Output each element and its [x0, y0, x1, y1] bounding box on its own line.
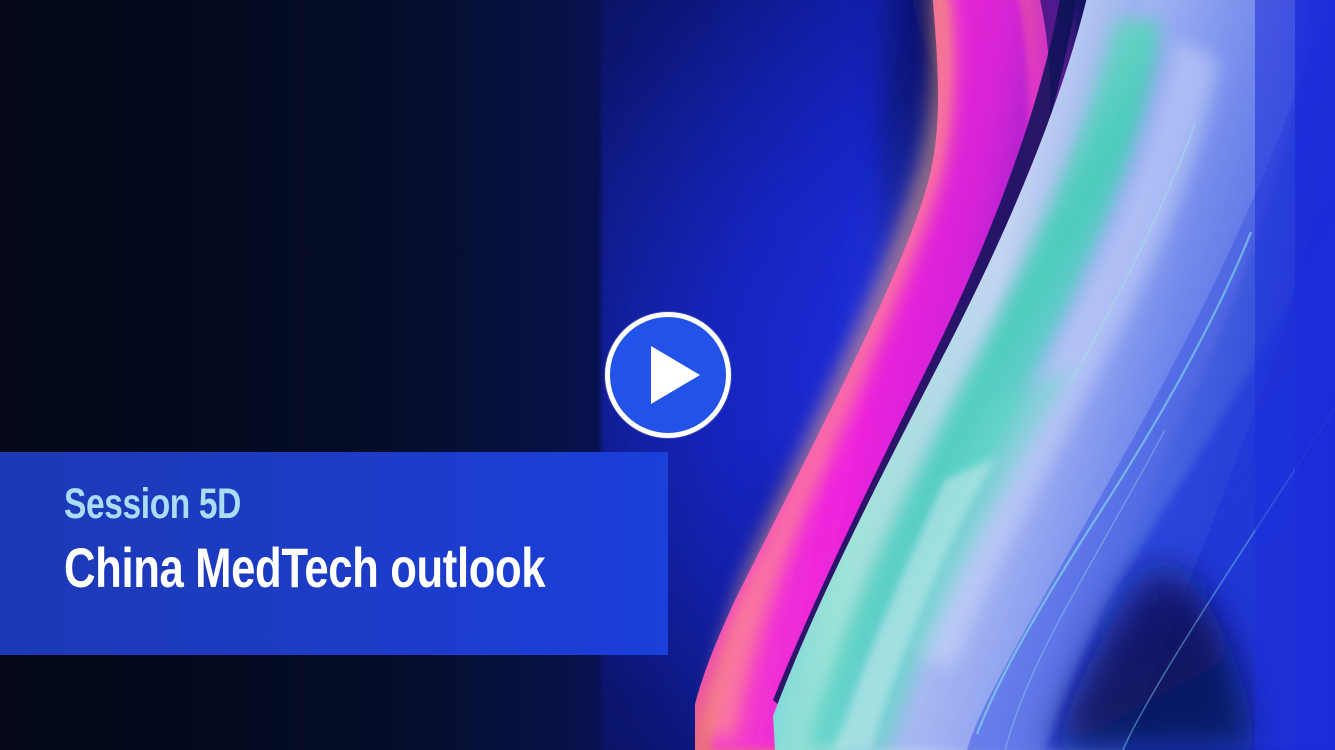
slide-canvas: Session 5D China MedTech outlook — [0, 0, 1335, 750]
play-triangle-icon — [651, 346, 700, 404]
session-caption-banner: Session 5D China MedTech outlook — [0, 452, 668, 655]
session-title: China MedTech outlook — [64, 539, 535, 598]
session-eyebrow: Session 5D — [64, 482, 535, 527]
play-button[interactable] — [605, 312, 731, 438]
iridescent-ribbon-graphic — [695, 0, 1335, 750]
